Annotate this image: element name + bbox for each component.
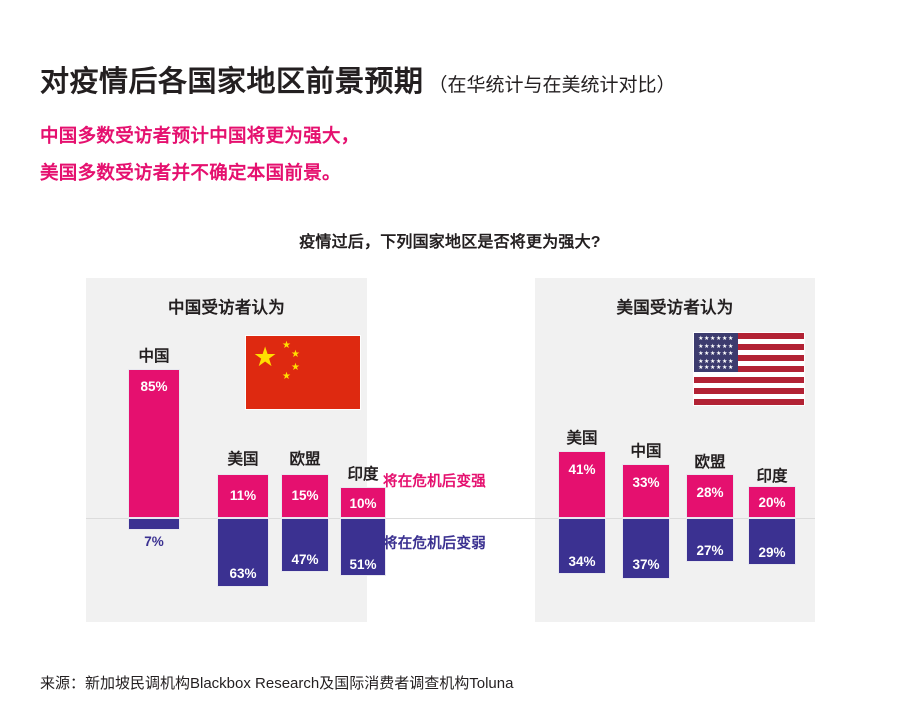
bar-group-right-usa[interactable]: 美国 41% 34% bbox=[558, 278, 606, 622]
bar-stronger-value: 41% bbox=[559, 462, 605, 477]
bar-weaker-segment[interactable]: 29% bbox=[748, 518, 796, 565]
bar-stronger-segment[interactable]: 85% bbox=[128, 369, 180, 518]
bar-group-left-china[interactable]: 中国 85% 7% bbox=[128, 278, 180, 622]
bar-weaker-value: 63% bbox=[218, 566, 268, 581]
bar-group-right-china[interactable]: 中国 33% 37% bbox=[622, 278, 670, 622]
chart-area: 中国受访者认为 美国受访者认为 ★ ★ ★ ★ ★ ★★★★★★ ★★★★★★ … bbox=[0, 0, 900, 719]
bar-group-left-india[interactable]: 印度 10% 51% bbox=[340, 278, 386, 622]
bar-weaker-segment[interactable]: 51% bbox=[340, 518, 386, 576]
bar-weaker-value: 27% bbox=[687, 543, 733, 558]
bar-group-left-eu[interactable]: 欧盟 15% 47% bbox=[281, 278, 329, 622]
bar-stronger-segment[interactable]: 41% bbox=[558, 451, 606, 518]
bar-label: 欧盟 bbox=[686, 450, 734, 472]
bar-weaker-value: 47% bbox=[282, 552, 328, 567]
bar-weaker-value: 51% bbox=[341, 557, 385, 572]
bar-label: 美国 bbox=[217, 447, 269, 469]
legend-item-stronger: 将在危机后变强 bbox=[383, 470, 486, 491]
bar-weaker-segment[interactable]: 63% bbox=[217, 518, 269, 587]
bar-stronger-segment[interactable]: 28% bbox=[686, 474, 734, 518]
bar-label: 美国 bbox=[558, 426, 606, 448]
bar-label: 欧盟 bbox=[281, 447, 329, 469]
bar-stronger-value: 11% bbox=[218, 488, 268, 503]
bar-stronger-segment[interactable]: 20% bbox=[748, 486, 796, 518]
bar-stronger-value: 20% bbox=[749, 495, 795, 510]
bar-stronger-value: 33% bbox=[623, 475, 669, 490]
bar-label: 中国 bbox=[128, 344, 180, 366]
bar-stronger-value: 85% bbox=[129, 379, 179, 394]
bar-weaker-segment[interactable]: 47% bbox=[281, 518, 329, 572]
bar-weaker-segment[interactable]: 27% bbox=[686, 518, 734, 562]
bar-group-right-eu[interactable]: 欧盟 28% 27% bbox=[686, 278, 734, 622]
bar-label: 中国 bbox=[622, 439, 670, 461]
source-note: 来源：新加坡民调机构Blackbox Research及国际消费者调查机构Tol… bbox=[40, 672, 513, 693]
bar-group-left-usa[interactable]: 美国 11% 63% bbox=[217, 278, 269, 622]
bar-weaker-segment[interactable]: 37% bbox=[622, 518, 670, 579]
bar-stronger-segment[interactable]: 33% bbox=[622, 464, 670, 518]
bar-label: 印度 bbox=[748, 464, 796, 486]
bar-label: 印度 bbox=[340, 462, 386, 484]
bar-weaker-value: 34% bbox=[559, 554, 605, 569]
bar-weaker-segment[interactable] bbox=[128, 518, 180, 530]
bar-weaker-value: 7% bbox=[128, 534, 180, 549]
bar-stronger-segment[interactable]: 15% bbox=[281, 474, 329, 518]
bar-weaker-value: 37% bbox=[623, 557, 669, 572]
bar-group-right-india[interactable]: 印度 20% 29% bbox=[748, 278, 796, 622]
bar-stronger-value: 15% bbox=[282, 488, 328, 503]
bar-weaker-value: 29% bbox=[749, 545, 795, 560]
bar-stronger-segment[interactable]: 10% bbox=[340, 487, 386, 518]
bar-stronger-segment[interactable]: 11% bbox=[217, 474, 269, 518]
legend-item-weaker: 将在危机后变弱 bbox=[383, 532, 486, 553]
bar-stronger-value: 28% bbox=[687, 485, 733, 500]
bar-weaker-segment[interactable]: 34% bbox=[558, 518, 606, 574]
bar-stronger-value: 10% bbox=[341, 496, 385, 511]
